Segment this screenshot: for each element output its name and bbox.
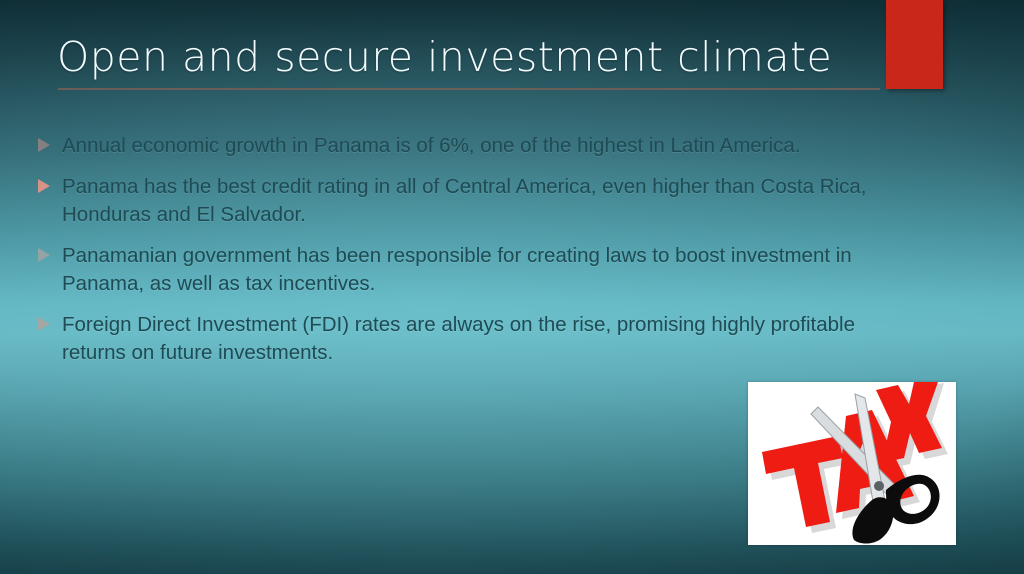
page-title: Open and secure investment climate	[57, 32, 877, 82]
list-item-label: Panama has the best credit rating in all…	[62, 173, 902, 229]
list-item: Foreign Direct Investment (FDI) rates ar…	[32, 311, 902, 367]
list-item: Panamanian government has been responsib…	[32, 242, 902, 298]
accent-bar-decoration	[886, 0, 943, 89]
presentation-slide: Open and secure investment climate Annua…	[0, 0, 1024, 574]
bullet-list: Annual economic growth in Panama is of 6…	[32, 132, 902, 380]
triangle-right-icon	[32, 242, 62, 262]
list-item-label: Panamanian government has been responsib…	[62, 242, 902, 298]
tax-scissors-clipart	[748, 382, 956, 545]
list-item: Annual economic growth in Panama is of 6…	[32, 132, 902, 160]
title-underline-rule	[58, 88, 880, 90]
list-item-label: Annual economic growth in Panama is of 6…	[62, 132, 902, 160]
triangle-right-icon	[32, 173, 62, 193]
list-item: Panama has the best credit rating in all…	[32, 173, 902, 229]
triangle-right-icon	[32, 311, 62, 331]
list-item-label: Foreign Direct Investment (FDI) rates ar…	[62, 311, 902, 367]
triangle-right-icon	[32, 132, 62, 152]
